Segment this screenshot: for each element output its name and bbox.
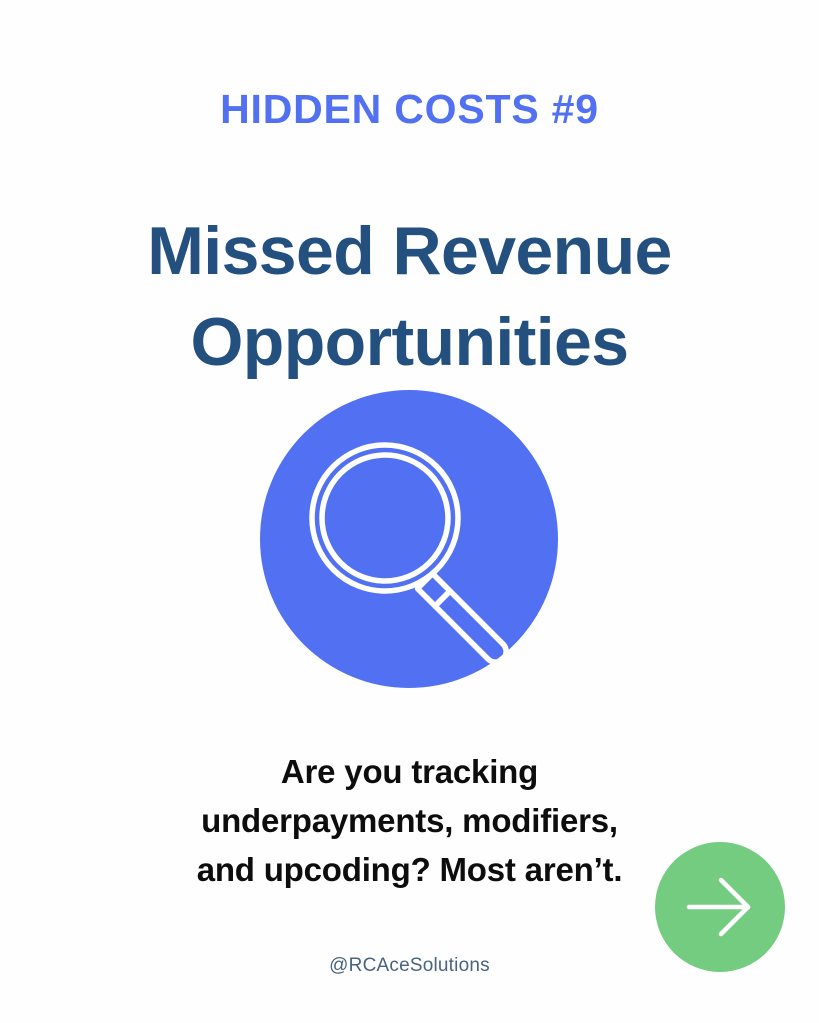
next-button[interactable] [655,842,785,972]
headline-line-1: Missed Revenue [0,206,819,297]
eyebrow-label: HIDDEN COSTS #9 [0,86,819,133]
body-copy-line-2: underpayments, modifiers, [0,797,819,846]
icon-badge [260,390,558,688]
headline-line-2: Opportunities [0,297,819,388]
magnifying-glass-icon [260,390,558,688]
slide-canvas: HIDDEN COSTS #9 Missed Revenue Opportuni… [0,0,819,1023]
page-title: Missed Revenue Opportunities [0,206,819,388]
arrow-right-icon [655,842,785,972]
body-copy-line-1: Are you tracking [0,748,819,797]
social-handle: @RCAceSolutions [0,955,819,977]
